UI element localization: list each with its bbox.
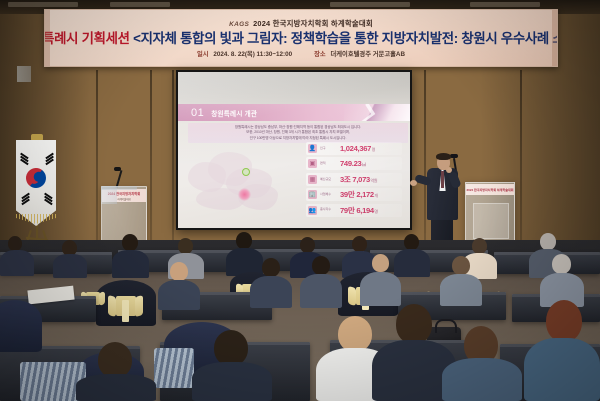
company-icon: 🏢 xyxy=(308,190,317,199)
slide-title-bar: 01 창원특례시 개관 xyxy=(178,104,410,121)
microphone-icon xyxy=(114,167,121,171)
flag-finial xyxy=(31,134,43,141)
wall-panel-seam xyxy=(96,70,98,262)
slide-map-graphic xyxy=(182,144,298,224)
stat-unit: 명 xyxy=(374,209,377,214)
lectern-right-sign: 2024 한국지방자치학회 하계학술대회 xyxy=(466,184,514,195)
slide-body-line: 인구 100만명 이상으로 지방자치법에 따라 지정된 특례시 도시입니다. xyxy=(192,136,404,141)
stat-label: 면적 xyxy=(320,162,337,166)
slide-number: 01 xyxy=(191,107,204,119)
banner-subtitle-row: KAGS 2024 한국지방자치학회 하계학술대회 xyxy=(229,18,373,29)
banner-title-blue: <지자체 통합의 빛과 그림자: 정책학습을 통한 지방자치발전: 창원시 우수… xyxy=(133,31,558,46)
worker-icon: 👥 xyxy=(308,206,317,215)
stat-row: 🏢 사업체수 39만 2,172개 xyxy=(306,188,402,201)
projection-screen: 01 창원특례시 개관 창원특례시는 경상남도 중남부, 마산·창원·진해지역 … xyxy=(178,72,410,228)
map-pin-icon xyxy=(242,168,250,176)
stat-value: 3조 7,073억원 xyxy=(340,174,377,185)
banner-edge xyxy=(552,10,557,66)
banner-subtitle: 2024 한국지방자치학회 하계학술대회 xyxy=(253,18,373,29)
banquet-chair-navy xyxy=(0,300,42,352)
banner-title-red: 창원특례시 기획세션 xyxy=(44,31,130,46)
wall-panel-seam xyxy=(150,70,152,262)
stat-unit: 명 xyxy=(372,147,375,152)
slide-top-area xyxy=(178,72,410,104)
banner-date-label: 일시 xyxy=(197,51,209,58)
stat-unit: 억원 xyxy=(370,178,377,183)
slide-body-text: 창원특례시는 경상남도 중남부, 마산·창원·진해지역 등이 통합된 경상남도 … xyxy=(188,123,408,143)
ceiling-track-light xyxy=(8,2,78,7)
lectern-base xyxy=(101,186,137,190)
lectern-sign-line2: 하계학술대회 xyxy=(117,197,130,201)
lectern-right-stem xyxy=(17,66,31,82)
slide-chevron-decoration xyxy=(344,104,410,121)
ceiling-track-light xyxy=(330,2,410,7)
slide-title: 창원특례시 개관 xyxy=(211,108,257,118)
stat-value: 79만 6,194명 xyxy=(340,205,378,216)
banner-date-value: 2024. 8. 22(목) 11:30~12:00 xyxy=(213,51,292,58)
slide-statistics: 👤 인구 1,024,367명 ▣ 면적 749.23㎢ ▦ 예산규모 3조 7… xyxy=(306,142,402,219)
chair-bow-knot xyxy=(122,300,129,322)
wall-panel-seam xyxy=(172,70,174,262)
stat-value: 39만 2,172개 xyxy=(340,189,378,200)
stat-row: 👥 종사자수 79만 6,194명 xyxy=(306,204,402,217)
banner-edge xyxy=(45,10,50,66)
stat-value: 1,024,367명 xyxy=(340,144,375,153)
banner-details: 일시 2024. 8. 22(목) 11:30~12:00 장소 더케이호텔경주… xyxy=(197,49,405,58)
stat-number: 749.23 xyxy=(340,159,361,168)
lectern-right-panel xyxy=(473,203,509,239)
stat-row: ▦ 예산규모 3조 7,073억원 xyxy=(306,173,402,186)
people-icon: 👤 xyxy=(308,144,317,153)
stat-label: 인구 xyxy=(320,147,337,151)
lectern-right-sign-label: 2024 한국지방자치학회 하계학술대회 xyxy=(467,188,514,192)
area-icon: ▣ xyxy=(308,159,317,168)
chair-cover-stripe xyxy=(154,348,194,388)
stat-value: 749.23㎢ xyxy=(340,159,366,168)
speaker-microphone-icon xyxy=(450,154,458,158)
event-banner: KAGS 2024 한국지방자치학회 하계학술대회 창원특례시 기획세션 <지자… xyxy=(44,9,558,67)
stat-label: 예산규모 xyxy=(320,178,337,182)
kags-logo: KAGS xyxy=(229,21,249,28)
stat-label: 사업체수 xyxy=(320,193,337,197)
stat-number: 39만 2,172 xyxy=(340,190,374,199)
stat-number: 3조 7,073 xyxy=(340,175,370,184)
budget-icon: ▦ xyxy=(308,175,317,184)
presenter-tie xyxy=(441,171,444,188)
presenter-hair xyxy=(436,153,451,160)
stat-number: 1,024,367 xyxy=(340,144,371,153)
wall-panel-seam xyxy=(424,70,426,262)
map-highlight-changwon xyxy=(238,188,251,201)
banner-date: 일시 2024. 8. 22(목) 11:30~12:00 xyxy=(197,49,292,58)
banner-place: 장소 더케이호텔경주 거문고홀AB xyxy=(314,49,405,58)
banner-place-label: 장소 xyxy=(314,51,326,58)
presenter-hand-left xyxy=(410,180,417,186)
ceiling-track-light xyxy=(110,2,170,7)
stat-unit: 개 xyxy=(374,193,377,198)
stat-number: 79만 6,194 xyxy=(340,206,374,215)
ceiling-track-light xyxy=(470,2,540,7)
stat-row: 👤 인구 1,024,367명 xyxy=(306,142,402,155)
conference-photo: KAGS 2024 한국지방자치학회 하계학술대회 창원특례시 기획세션 <지자… xyxy=(0,0,600,401)
stat-unit: ㎢ xyxy=(362,162,366,167)
banner-title: 창원특례시 기획세션 <지자체 통합의 빛과 그림자: 정책학습을 통한 지방자… xyxy=(44,32,558,45)
banner-place-value: 더케이호텔경주 거문고홀AB xyxy=(330,51,405,58)
stat-row: ▣ 면적 749.23㎢ xyxy=(306,157,402,170)
stat-label: 종사자수 xyxy=(320,208,337,212)
